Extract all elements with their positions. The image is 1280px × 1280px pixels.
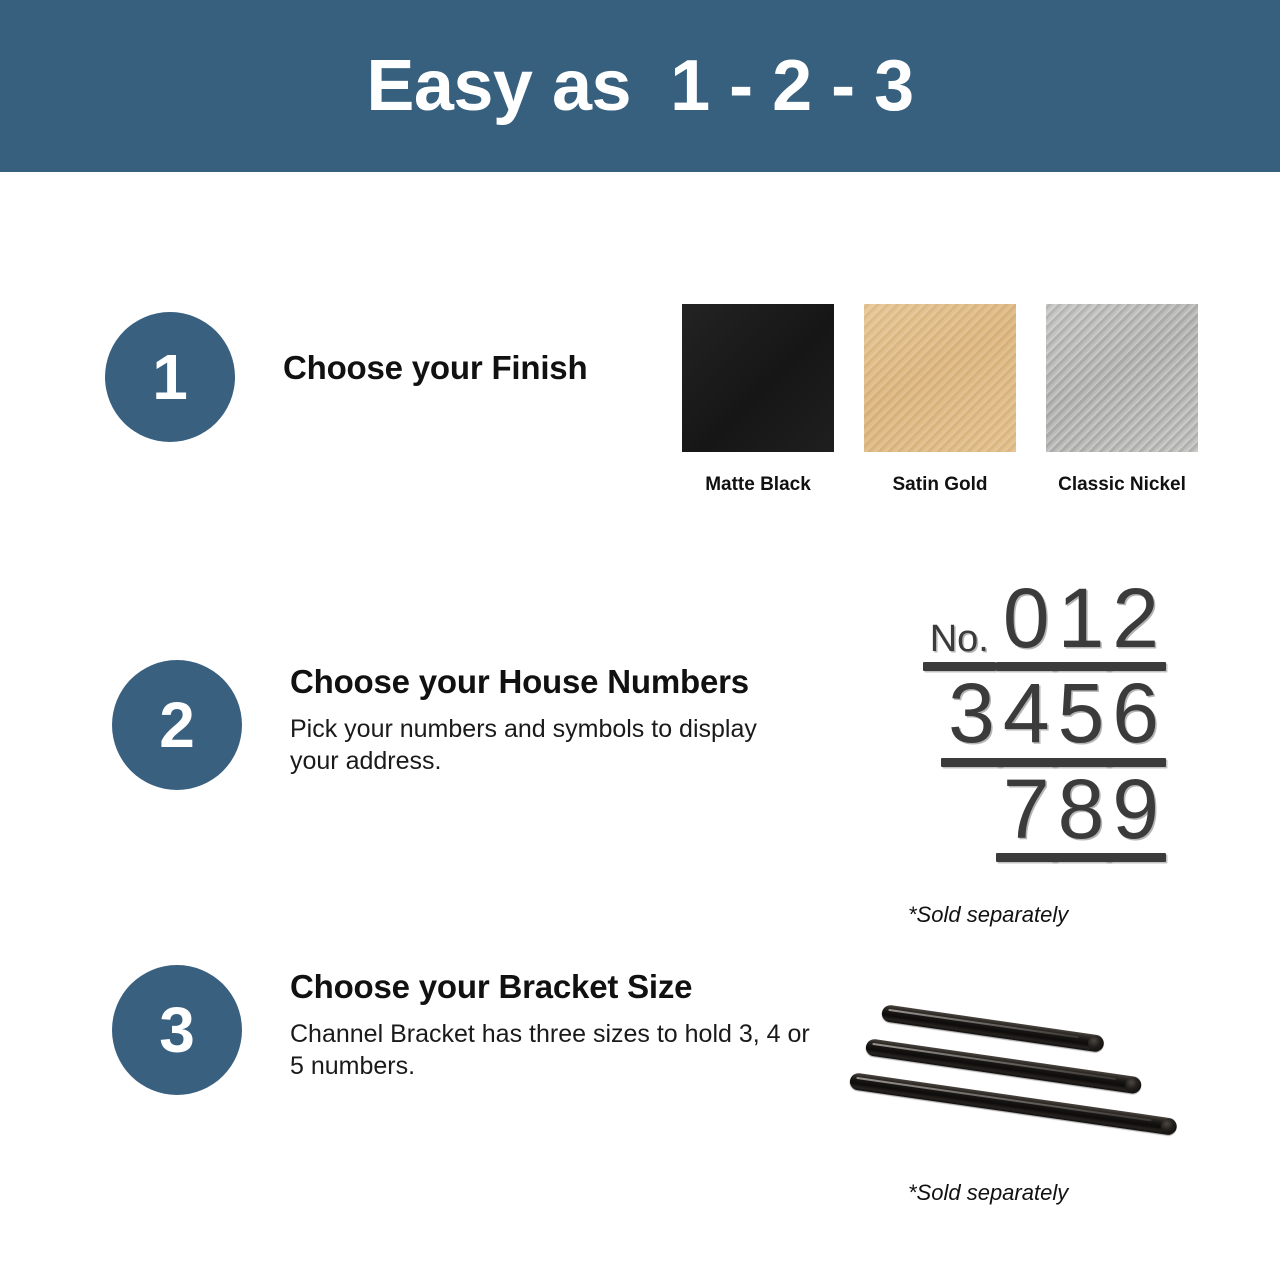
step-2-body: Pick your numbers and symbols to display… — [290, 713, 810, 777]
swatch-chip-classic-nickel[interactable] — [1046, 304, 1198, 452]
brackets-sold-separately-note: *Sold separately — [908, 1180, 1068, 1206]
page-title: Easy as 1 - 2 - 3 — [366, 50, 913, 122]
swatch-label-classic-nickel: Classic Nickel — [1046, 474, 1198, 496]
step-3-body: Channel Bracket has three sizes to hold … — [290, 1018, 810, 1082]
house-number-glyph: 0 — [1000, 580, 1053, 671]
header-banner: Easy as 1 - 2 - 3 — [0, 0, 1280, 172]
finish-swatch-group: Matte Black Satin Gold Classic Nickel — [682, 304, 1198, 496]
infographic-page: Easy as 1 - 2 - 3 1 Choose your Finish M… — [0, 0, 1280, 1280]
step-1-heading: Choose your Finish — [283, 316, 587, 387]
step-1-row: 1 Choose your Finish — [105, 312, 587, 442]
house-numbers-illustration: No. 0 1 2 3 4 5 6 7 8 9 — [900, 580, 1162, 866]
house-number-glyph-prefix: No. — [927, 622, 992, 671]
finish-option-matte-black[interactable]: Matte Black — [682, 304, 834, 496]
house-numbers-sold-separately-note: *Sold separately — [908, 902, 1068, 928]
house-number-glyph: 4 — [1000, 675, 1053, 766]
step-1-text: Choose your Finish — [283, 312, 587, 387]
house-numbers-row-1: No. 0 1 2 — [900, 580, 1162, 671]
swatch-chip-satin-gold[interactable] — [864, 304, 1016, 452]
house-number-glyph: 9 — [1109, 771, 1162, 862]
house-number-glyph: 1 — [1055, 580, 1108, 671]
swatch-chip-matte-black[interactable] — [682, 304, 834, 452]
step-3-heading: Choose your Bracket Size — [290, 969, 810, 1006]
channel-bracket-illustration — [840, 990, 1200, 1170]
step-3-number-badge: 3 — [112, 965, 242, 1095]
house-number-glyph: 2 — [1109, 580, 1162, 671]
finish-option-classic-nickel[interactable]: Classic Nickel — [1046, 304, 1198, 496]
step-1-number-badge: 1 — [105, 312, 235, 442]
house-number-glyph: 3 — [945, 675, 998, 766]
finish-option-satin-gold[interactable]: Satin Gold — [864, 304, 1016, 496]
step-2-heading: Choose your House Numbers — [290, 664, 810, 701]
swatch-label-matte-black: Matte Black — [682, 474, 834, 496]
step-3-row: 3 Choose your Bracket Size Channel Brack… — [112, 965, 810, 1095]
house-numbers-row-3: 7 8 9 — [900, 771, 1162, 862]
house-number-glyph: 7 — [1000, 771, 1053, 862]
house-number-glyph: 5 — [1055, 675, 1108, 766]
house-numbers-row-2: 3 4 5 6 — [900, 675, 1162, 766]
house-number-glyph: 6 — [1109, 675, 1162, 766]
step-2-number-badge: 2 — [112, 660, 242, 790]
step-2-row: 2 Choose your House Numbers Pick your nu… — [112, 660, 810, 790]
step-3-text: Choose your Bracket Size Channel Bracket… — [290, 965, 810, 1082]
swatch-label-satin-gold: Satin Gold — [864, 474, 1016, 496]
step-2-text: Choose your House Numbers Pick your numb… — [290, 660, 810, 777]
house-number-glyph: 8 — [1055, 771, 1108, 862]
